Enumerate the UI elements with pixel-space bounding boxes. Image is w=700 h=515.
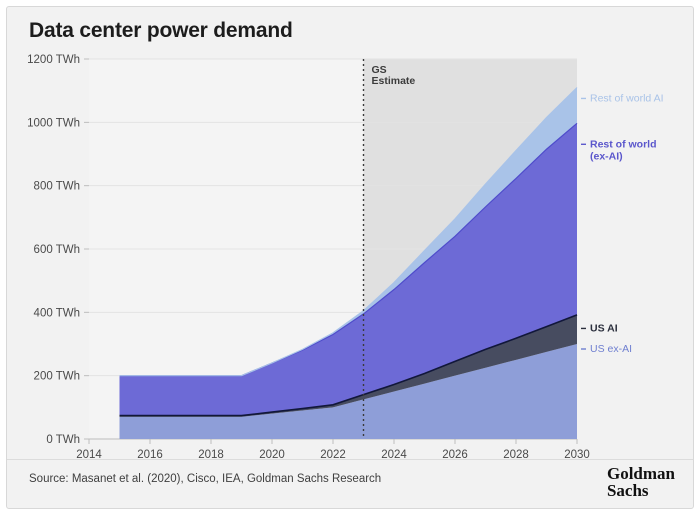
source-note: Source: Masanet et al. (2020), Cisco, IE… bbox=[29, 473, 381, 485]
svg-text:200 TWh: 200 TWh bbox=[34, 371, 80, 383]
legend-label-1: Rest of world bbox=[590, 138, 657, 150]
goldman-sachs-logo: Goldman Sachs bbox=[607, 465, 675, 500]
chart-plot-area: 0 TWh200 TWh400 TWh600 TWh800 TWh1000 TW… bbox=[7, 7, 694, 509]
chart-card: Data center power demand 0 TWh200 TWh400… bbox=[6, 6, 694, 509]
legend-label-2: US AI bbox=[590, 322, 618, 334]
legend-label-0: Rest of world AI bbox=[590, 92, 664, 104]
svg-text:1200 TWh: 1200 TWh bbox=[27, 54, 80, 66]
footer-divider bbox=[7, 459, 694, 460]
svg-text:0 TWh: 0 TWh bbox=[46, 434, 80, 446]
svg-text:800 TWh: 800 TWh bbox=[34, 181, 80, 193]
svg-text:600 TWh: 600 TWh bbox=[34, 244, 80, 256]
logo-line-1: Goldman bbox=[607, 465, 675, 482]
stacked-area-chart: 0 TWh200 TWh400 TWh600 TWh800 TWh1000 TW… bbox=[7, 7, 694, 467]
legend-label-1-line2: (ex-AI) bbox=[590, 150, 623, 162]
gs-estimate-label-2: Estimate bbox=[372, 75, 416, 87]
legend-label-3: US ex-AI bbox=[590, 343, 632, 355]
svg-text:400 TWh: 400 TWh bbox=[34, 307, 80, 319]
logo-line-2: Sachs bbox=[607, 482, 675, 499]
svg-text:1000 TWh: 1000 TWh bbox=[27, 117, 80, 129]
